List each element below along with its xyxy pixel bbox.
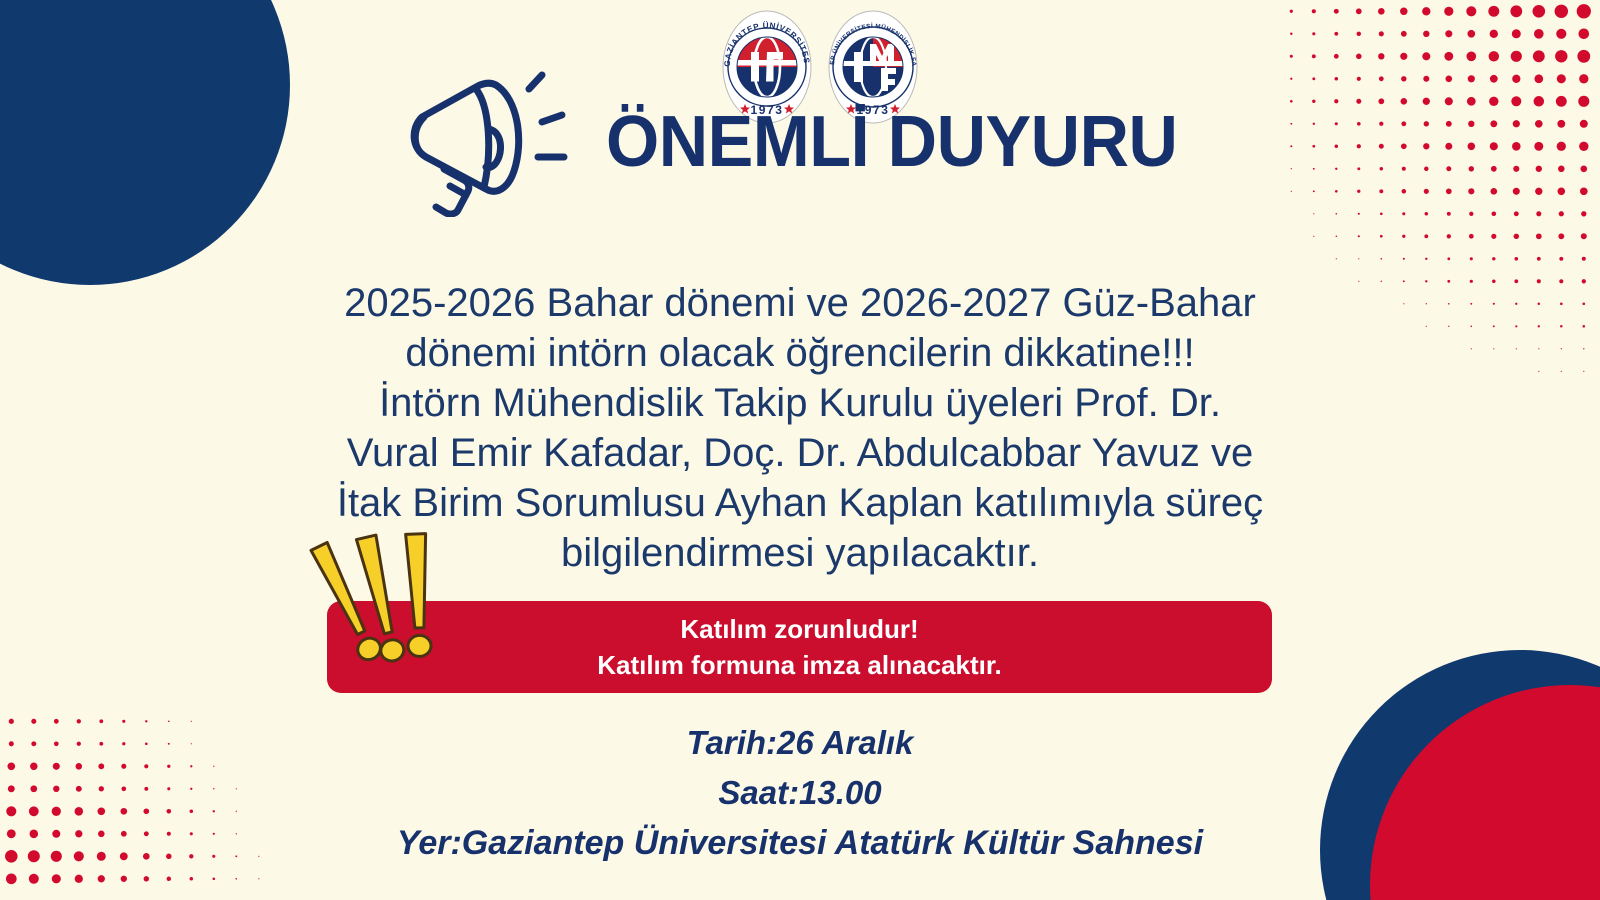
body-line: 2025-2026 Bahar dönemi ve 2026-2027 Güz-… <box>295 278 1305 328</box>
body-line: İtak Birim Sorumlusu Ayhan Kaplan katılı… <box>295 478 1305 528</box>
announcement-body: 2025-2026 Bahar dönemi ve 2026-2027 Güz-… <box>295 278 1305 578</box>
body-line: İntörn Mühendislik Takip Kurulu üyeleri … <box>295 378 1305 428</box>
megaphone-icon <box>392 67 572 217</box>
event-time: Saat:13.00 <box>0 768 1600 818</box>
announcement-poster: GAZİANTEP ÜNİVERSİTESİ 1973 <box>0 0 1600 900</box>
banner-line: Katılım zorunludur! <box>680 613 918 645</box>
mandatory-attendance-banner: Katılım zorunludur! Katılım formuna imza… <box>327 601 1272 693</box>
body-line: bilgilendirmesi yapılacaktır. <box>295 528 1305 578</box>
body-line: dönemi intörn olacak öğrencilerin dikkat… <box>295 328 1305 378</box>
event-details: Tarih:26 Aralık Saat:13.00 Yer:Gaziantep… <box>0 718 1600 868</box>
title-row: ÖNEMLİ DUYURU <box>0 62 1600 222</box>
body-line: Vural Emir Kafadar, Doç. Dr. Abdulcabbar… <box>295 428 1305 478</box>
page-title: ÖNEMLİ DUYURU <box>606 106 1177 178</box>
event-date: Tarih:26 Aralık <box>0 718 1600 768</box>
banner-line: Katılım formuna imza alınacaktır. <box>597 649 1002 681</box>
event-location: Yer:Gaziantep Üniversitesi Atatürk Kültü… <box>0 818 1600 868</box>
